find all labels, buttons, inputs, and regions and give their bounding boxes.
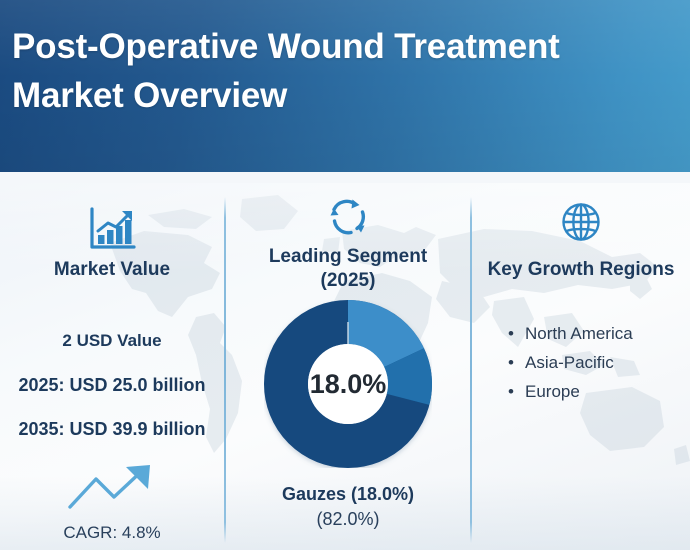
cagr-value: CAGR: 4.8% [0,523,224,543]
infographic-root: Post-Operative Wound Treatment Market Ov… [0,0,690,550]
key-growth-regions-heading: Key Growth Regions [472,259,690,281]
region-label: North America [525,324,633,343]
refresh-cycle-icon [226,195,470,239]
bar-chart-growth-icon [0,205,224,253]
panel-market-value: Market Value 2 USD Value 2025: USD 25.0 … [0,183,224,550]
list-item: • Asia-Pacific [508,348,690,377]
list-item: • Europe [508,377,690,406]
accent-gradient-bar [0,172,690,183]
region-label: Asia-Pacific [525,353,614,372]
regions-list: • North America • Asia-Pacific • Europe [508,319,690,406]
region-label: Europe [525,382,580,401]
donut-chart: 18.0% [264,300,432,468]
leading-segment-heading: Leading Segment (2025) [226,245,470,293]
segment-label-sub: (82.0%) [226,509,470,530]
trend-up-arrow-icon [0,461,224,513]
bullet-glyph: • [508,377,514,406]
market-value-line-3: 2035: USD 39.9 billion [0,419,224,440]
segment-label-main: Gauzes (18.0%) [226,484,470,505]
content-area: Market Value 2 USD Value 2025: USD 25.0 … [0,183,690,550]
panel-leading-segment: Leading Segment (2025) [226,183,470,550]
panel-key-growth-regions: Key Growth Regions • North America • Asi… [472,183,690,550]
bullet-glyph: • [508,319,514,348]
market-value-line-1: 2 USD Value [0,331,224,351]
market-value-line-2: 2025: USD 25.0 billion [0,375,224,396]
market-value-heading: Market Value [0,259,224,281]
bullet-glyph: • [508,348,514,377]
globe-icon [472,201,690,243]
header-banner: Post-Operative Wound Treatment Market Ov… [0,0,690,172]
page-title: Post-Operative Wound Treatment Market Ov… [12,22,672,120]
list-item: • North America [508,319,690,348]
